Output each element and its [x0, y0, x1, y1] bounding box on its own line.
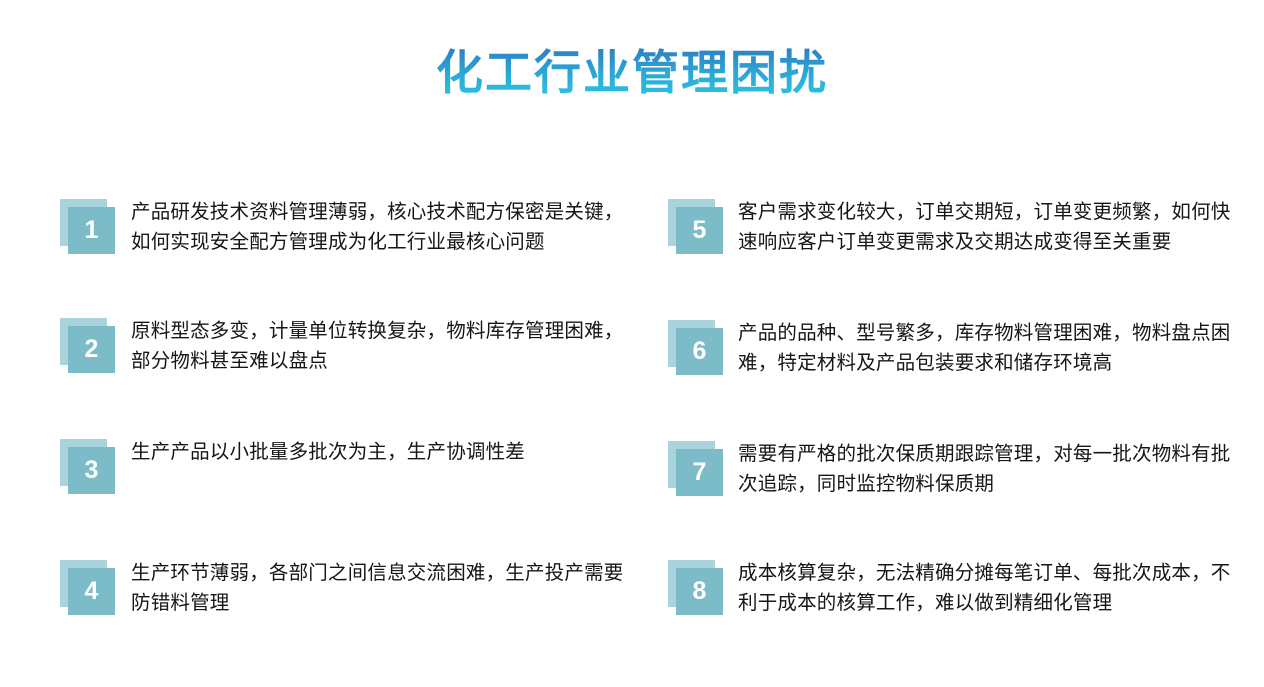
badge-number: 7	[676, 449, 723, 496]
number-badge: 7	[663, 438, 723, 496]
content-columns: 1 产品研发技术资料管理薄弱，核心技术配方保密是关键，如何实现安全配方管理成为化…	[0, 0, 1264, 687]
number-badge: 1	[55, 196, 115, 254]
badge-number: 5	[676, 207, 723, 254]
badge-number: 6	[676, 328, 723, 375]
list-item-text: 生产环节薄弱，各部门之间信息交流困难，生产投产需要防错料管理	[131, 558, 625, 619]
badge-number: 4	[68, 568, 115, 615]
number-badge: 5	[663, 196, 723, 254]
list-item-text: 产品的品种、型号繁多，库存物料管理困难，物料盘点困难，特定材料及产品包装要求和储…	[738, 318, 1233, 379]
badge-number: 3	[68, 447, 115, 494]
list-item: 1 产品研发技术资料管理薄弱，核心技术配方保密是关键，如何实现安全配方管理成为化…	[55, 194, 625, 258]
list-item-text: 原料型态多变，计量单位转换复杂，物料库存管理困难，部分物料甚至难以盘点	[131, 316, 625, 377]
list-item: 2 原料型态多变，计量单位转换复杂，物料库存管理困难，部分物料甚至难以盘点	[55, 313, 625, 377]
list-item-text: 成本核算复杂，无法精确分摊每笔订单、每批次成本，不利于成本的核算工作，难以做到精…	[738, 558, 1233, 619]
list-item-text: 客户需求变化较大，订单交期短，订单变更频繁，如何快速响应客户订单变更需求及交期达…	[738, 197, 1233, 258]
number-badge: 2	[55, 315, 115, 373]
badge-number: 1	[68, 207, 115, 254]
list-item-text: 产品研发技术资料管理薄弱，核心技术配方保密是关键，如何实现安全配方管理成为化工行…	[131, 197, 625, 258]
list-item: 5 客户需求变化较大，订单交期短，订单变更频繁，如何快速响应客户订单变更需求及交…	[663, 194, 1233, 258]
number-badge: 6	[663, 317, 723, 375]
badge-number: 2	[68, 326, 115, 373]
number-badge: 3	[55, 436, 115, 494]
list-item-text: 需要有严格的批次保质期跟踪管理，对每一批次物料有批次追踪，同时监控物料保质期	[738, 439, 1233, 500]
badge-number: 8	[676, 568, 723, 615]
list-item: 4 生产环节薄弱，各部门之间信息交流困难，生产投产需要防错料管理	[55, 555, 625, 619]
number-badge: 8	[663, 557, 723, 615]
list-item: 6 产品的品种、型号繁多，库存物料管理困难，物料盘点困难，特定材料及产品包装要求…	[663, 315, 1233, 379]
list-item-text: 生产产品以小批量多批次为主，生产协调性差	[131, 437, 625, 467]
list-item: 8 成本核算复杂，无法精确分摊每笔订单、每批次成本，不利于成本的核算工作，难以做…	[663, 555, 1233, 619]
list-item: 7 需要有严格的批次保质期跟踪管理，对每一批次物料有批次追踪，同时监控物料保质期	[663, 436, 1233, 500]
list-item: 3 生产产品以小批量多批次为主，生产协调性差	[55, 434, 625, 494]
number-badge: 4	[55, 557, 115, 615]
